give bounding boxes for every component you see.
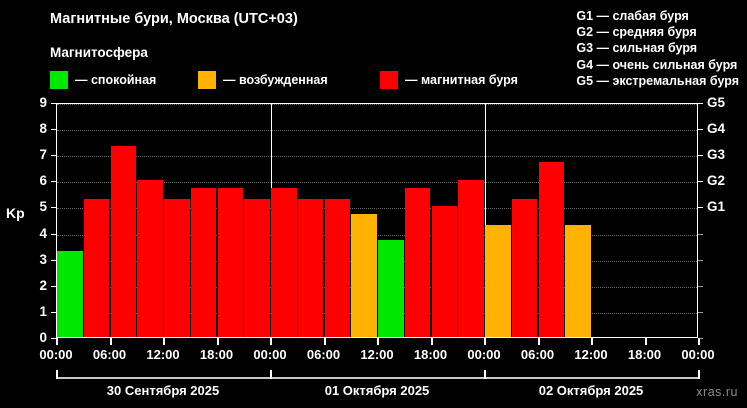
g-axis-tick-g1 xyxy=(698,207,703,208)
g-axis-tick-g2 xyxy=(698,181,703,182)
g-legend-line-g5: G5 — экстремальная буря xyxy=(576,73,739,89)
y-tick-4 xyxy=(51,234,56,235)
g-axis-label-g3: G3 xyxy=(707,148,725,162)
bar-storm-9 xyxy=(298,199,324,337)
magnetosphere-label: Магнитосфера xyxy=(50,45,148,60)
quiet-swatch-icon xyxy=(50,71,68,89)
y-tick-label-8: 8 xyxy=(39,122,47,136)
date-bracket-tick-72h xyxy=(698,370,700,379)
bar-storm-14 xyxy=(432,206,458,337)
page-title: Магнитные бури, Москва (UTC+03) xyxy=(50,11,298,27)
x-time-label-60h: 12:00 xyxy=(574,347,607,362)
bar-storm-8 xyxy=(271,188,297,337)
y-tick-label-9: 9 xyxy=(39,96,47,110)
x-time-label-42h: 18:00 xyxy=(414,347,447,362)
y-tick-5 xyxy=(51,207,56,208)
bar-storm-6 xyxy=(218,188,244,337)
y-tick-2 xyxy=(51,286,56,287)
legend-item-storm: — магнитная буря xyxy=(380,70,518,90)
x-tick-48h xyxy=(484,338,486,345)
x-time-label-66h: 18:00 xyxy=(628,347,661,362)
bar-unsettled-19 xyxy=(565,225,591,337)
date-bracket-tick-24h xyxy=(270,370,272,379)
date-label-1: 30 Сентября 2025 xyxy=(107,383,219,398)
y-tick-3 xyxy=(51,260,56,261)
y-tick-label-2: 2 xyxy=(39,279,47,293)
x-time-label-36h: 12:00 xyxy=(360,347,393,362)
x-time-label-24h: 00:00 xyxy=(253,347,286,362)
x-tick-54h xyxy=(538,338,540,345)
x-tick-30h xyxy=(324,338,326,345)
bar-storm-18 xyxy=(539,162,565,337)
y-tick-label-3: 3 xyxy=(39,253,47,267)
x-time-label-18h: 18:00 xyxy=(200,347,233,362)
bar-storm-3 xyxy=(137,180,163,337)
g-axis-label-g4: G4 xyxy=(707,122,725,136)
x-time-label-48h: 00:00 xyxy=(467,347,500,362)
y-tick-label-7: 7 xyxy=(39,148,47,162)
bar-storm-4 xyxy=(164,199,190,337)
y-tick-label-5: 5 xyxy=(39,200,47,214)
y-tick-label-4: 4 xyxy=(39,227,47,241)
y-tick-9 xyxy=(51,103,56,104)
legend-item-unsettled: — возбужденная xyxy=(198,70,328,90)
x-tick-72h xyxy=(698,338,700,345)
g-axis-tick-g5 xyxy=(698,103,703,104)
plot-area xyxy=(56,103,698,338)
x-tick-60h xyxy=(591,338,593,345)
bar-series xyxy=(57,104,697,337)
g-axis-minor-tick-4 xyxy=(698,234,703,235)
g-legend-line-g1: G1 — слабая буря xyxy=(576,8,739,24)
date-bracket xyxy=(56,377,698,379)
date-label-3: 02 Октября 2025 xyxy=(539,383,644,398)
x-tick-0h xyxy=(56,338,58,345)
magnetic-storm-chart-page: { "title": "Магнитные бури, Москва (UTC+… xyxy=(0,0,747,408)
x-tick-18h xyxy=(217,338,219,345)
y-tick-1 xyxy=(51,312,56,313)
x-tick-36h xyxy=(377,338,379,345)
watermark: xras.ru xyxy=(696,385,738,399)
g-legend-line-g3: G3 — сильная буря xyxy=(576,40,739,56)
bar-unsettled-16 xyxy=(485,225,511,337)
storm-swatch-icon xyxy=(380,71,398,89)
date-bracket-tick-48h xyxy=(484,370,486,379)
x-time-label-72h: 00:00 xyxy=(681,347,714,362)
x-tick-42h xyxy=(431,338,433,345)
bar-storm-13 xyxy=(405,188,431,337)
date-label-2: 01 Октября 2025 xyxy=(325,383,430,398)
x-tick-6h xyxy=(110,338,112,345)
x-tick-12h xyxy=(163,338,165,345)
y-tick-label-1: 1 xyxy=(39,305,47,319)
bar-storm-7 xyxy=(244,199,270,337)
bar-unsettled-11 xyxy=(351,214,377,337)
g-legend-line-g4: G4 — очень сильная буря xyxy=(576,57,739,73)
x-time-label-12h: 12:00 xyxy=(146,347,179,362)
g-legend-line-g2: G2 — средняя буря xyxy=(576,24,739,40)
legend-label-quiet: — спокойная xyxy=(75,73,156,87)
bar-storm-17 xyxy=(512,199,538,337)
y-tick-6 xyxy=(51,181,56,182)
g-axis-minor-tick-3 xyxy=(698,260,703,261)
legend-item-quiet: — спокойная xyxy=(50,70,156,90)
y-tick-label-6: 6 xyxy=(39,174,47,188)
x-time-label-54h: 06:00 xyxy=(521,347,554,362)
y-tick-label-0: 0 xyxy=(39,331,47,345)
g-axis-label-g2: G2 xyxy=(707,174,725,188)
bar-quiet-12 xyxy=(378,240,404,337)
g-scale-legend: G1 — слабая буряG2 — средняя буряG3 — си… xyxy=(576,8,739,89)
x-time-label-30h: 06:00 xyxy=(307,347,340,362)
g-axis-label-g5: G5 xyxy=(707,96,725,110)
g-axis-minor-tick-1 xyxy=(698,312,703,313)
date-bracket-tick-0h xyxy=(56,370,58,379)
g-axis-tick-g3 xyxy=(698,155,703,156)
x-tick-66h xyxy=(645,338,647,345)
g-axis-minor-tick-2 xyxy=(698,286,703,287)
y-tick-7 xyxy=(51,155,56,156)
y-axis-title: Kp xyxy=(6,205,25,221)
bar-quiet-0 xyxy=(57,251,83,337)
y-tick-8 xyxy=(51,129,56,130)
legend-label-unsettled: — возбужденная xyxy=(223,73,328,87)
g-axis-label-g1: G1 xyxy=(707,200,725,214)
g-axis-tick-g4 xyxy=(698,129,703,130)
bar-storm-2 xyxy=(111,146,137,337)
bar-storm-15 xyxy=(458,180,484,337)
bar-storm-5 xyxy=(191,188,217,337)
bar-storm-1 xyxy=(84,199,110,337)
x-time-label-6h: 06:00 xyxy=(93,347,126,362)
x-tick-24h xyxy=(270,338,272,345)
bar-storm-10 xyxy=(325,199,351,337)
x-time-label-0h: 00:00 xyxy=(39,347,72,362)
legend-label-storm: — магнитная буря xyxy=(405,73,518,87)
unsettled-swatch-icon xyxy=(198,71,216,89)
